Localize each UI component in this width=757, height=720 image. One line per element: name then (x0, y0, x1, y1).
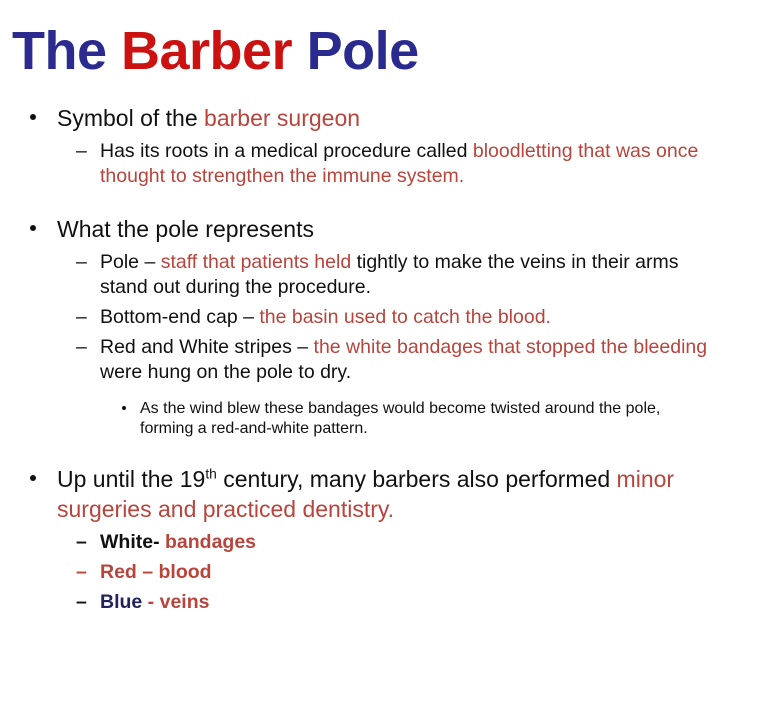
legend-value-bandages: bandages (165, 531, 256, 553)
dash-marker-icon: – (76, 139, 87, 164)
bullet-text-b: century, many barbers also performed (217, 466, 617, 492)
sub-bullet-text-highlight: staff that patients held (161, 251, 351, 273)
page-title: The Barber Pole (0, 0, 757, 80)
sub-bullet-red-blood: – Red – blood (0, 560, 745, 585)
slide-body: Symbol of the barber surgeon – Has its r… (0, 80, 757, 614)
ordinal-superscript: th (205, 466, 217, 481)
legend-label-blue: Blue (100, 591, 142, 613)
title-part-pole: Pole (292, 21, 419, 81)
legend-label-white: White- (100, 531, 165, 553)
bullet-what-the-pole-represents: What the pole represents (0, 215, 745, 245)
bullet-group-symbol: Symbol of the barber surgeon – Has its r… (0, 104, 745, 189)
sub-bullet-text-a: Pole – (100, 251, 161, 273)
sub-bullet-text-highlight: the white bandages that stopped the blee… (314, 336, 708, 358)
sub-sub-bullet-wind-blew: As the wind blew these bandages would be… (0, 399, 745, 439)
sub-bullet-blue-veins: – Blue - veins (0, 590, 745, 615)
dash-marker-icon: – (76, 560, 87, 585)
sub-bullet-text-a: Red and White stripes – (100, 336, 314, 358)
bullet-text-a: Up until the 19 (57, 466, 205, 492)
dash-marker-icon: – (76, 250, 87, 275)
sub-bullet-text-b: were hung on the pole to dry. (100, 361, 351, 383)
sub-bullet-text-highlight: the basin used to catch the blood. (259, 306, 551, 328)
bullet-group-19th-century: Up until the 19th century, many barbers … (0, 465, 745, 615)
bullet-dot-icon (30, 225, 36, 231)
bullet-group-pole-represents: What the pole represents – Pole – staff … (0, 215, 745, 439)
bullet-dot-icon (30, 114, 36, 120)
legend-label-red-blood: Red – blood (100, 561, 212, 583)
slide-root: The Barber Pole Symbol of the barber sur… (0, 0, 757, 720)
dash-marker-icon: – (76, 590, 87, 615)
title-part-barber: Barber (121, 21, 292, 81)
legend-value-veins: - veins (142, 591, 209, 613)
bullet-text-lead: What the pole represents (57, 216, 314, 242)
bullet-text-highlight: barber surgeon (204, 105, 360, 131)
sub-bullet-text-a: Bottom-end cap – (100, 306, 259, 328)
sub-bullet-red-white-stripes: – Red and White stripes – the white band… (0, 335, 745, 385)
bullet-text-lead: Symbol of the (57, 105, 204, 131)
sub-bullet-bottom-end-cap: – Bottom-end cap – the basin used to cat… (0, 305, 745, 330)
bullet-up-until-19th-century: Up until the 19th century, many barbers … (0, 465, 745, 525)
dash-marker-icon: – (76, 530, 87, 555)
sub-bullet-white-bandages: – White- bandages (0, 530, 745, 555)
dash-marker-icon: – (76, 305, 87, 330)
title-part-the: The (12, 21, 121, 81)
sub-bullet-bloodletting: – Has its roots in a medical procedure c… (0, 139, 745, 189)
bullet-symbol-of-barber-surgeon: Symbol of the barber surgeon (0, 104, 745, 134)
sub-sub-bullet-text: As the wind blew these bandages would be… (140, 400, 660, 437)
sub-bullet-text-lead: Has its roots in a medical procedure cal… (100, 140, 473, 162)
dash-marker-icon: – (76, 335, 87, 360)
bullet-small-dot-icon (122, 406, 126, 410)
sub-bullet-pole-staff: – Pole – staff that patients held tightl… (0, 250, 745, 300)
bullet-dot-icon (30, 475, 36, 481)
